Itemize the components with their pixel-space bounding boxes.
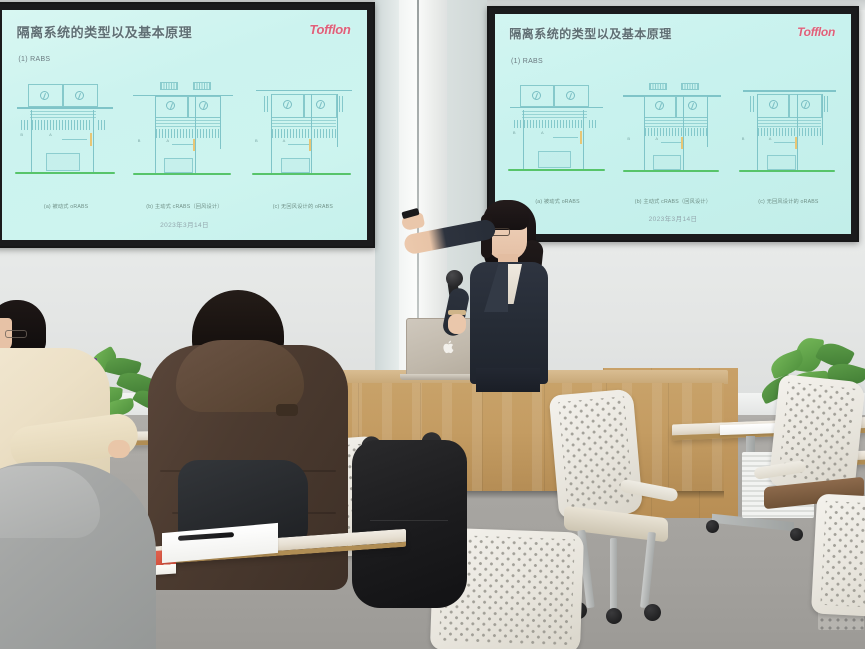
diagram-b-caption: (b) 主动式 cRABS（回风设计）: [131, 203, 237, 210]
slide-date: 2023年3月14日: [2, 219, 367, 229]
diagram-a-right: B A (a) 被动式 oRABS: [506, 82, 610, 205]
diagram-c-right: B A (c) 无回风设计的 oRABS: [737, 82, 841, 205]
diagram-c-caption: (c) 无回风设计的 oRABS: [250, 203, 356, 210]
attendee-cream-hand: [108, 440, 130, 458]
diagram-b-caption-right: (b) 主动式 cRABS（回风设计）: [621, 198, 725, 205]
jacket-toggle: [276, 404, 298, 416]
slide-left: 隔离系统的类型以及基本原理 Tofflon (1) RABS: [2, 10, 367, 240]
wall-panel-left: [375, 0, 399, 420]
diagram-a: B A (a) 被动式 oRABS: [13, 81, 119, 210]
chair-caster: [644, 604, 661, 621]
tofflon-logo-right: Tofflon: [797, 25, 835, 39]
diagram-row-right: B A (a) 被动式 oRABS: [506, 82, 841, 205]
diagram-b-right: B A (b) 主动式 cRABS（回风设计）: [621, 82, 725, 205]
diagram-a-canvas: B A: [13, 81, 119, 184]
table-caster: [706, 520, 719, 533]
slide-subtitle: (1) RABS: [18, 56, 50, 63]
attendee-brown-hood: [176, 340, 304, 412]
chair-backrest: [811, 493, 865, 618]
diagram-c-caption-right: (c) 无回风设计的 oRABS: [737, 198, 841, 205]
chair-mesh-pattern: [558, 396, 633, 509]
slide-subtitle-right: (1) RABS: [511, 58, 543, 65]
diagram-a-caption: (a) 被动式 oRABS: [13, 203, 119, 210]
chair-backrest: [768, 374, 865, 494]
attendee-cream-glasses: [5, 330, 27, 338]
conference-room-photo: 隔离系统的类型以及基本原理 Tofflon (1) RABS: [0, 0, 865, 649]
slide-title-right: 隔离系统的类型以及基本原理: [509, 25, 672, 42]
microphone-head: [446, 270, 463, 287]
diagram-c-canvas: B A: [250, 81, 356, 184]
left-projection-screen: 隔离系统的类型以及基本原理 Tofflon (1) RABS: [0, 2, 375, 248]
presenter-skirt: [476, 368, 540, 392]
diagram-b-canvas: B A: [131, 81, 237, 184]
slide-title: 隔离系统的类型以及基本原理: [17, 22, 193, 41]
chair-empty-far-right[interactable]: [814, 496, 865, 646]
presenter: [398, 192, 563, 382]
chair-mesh-pattern: [820, 501, 865, 609]
presenter-mic-hand: [448, 314, 466, 334]
chair-backrest: [549, 389, 643, 520]
diagram-b: B A (b) 主动式 cRABS（回风设计）: [131, 81, 237, 210]
chair-leg: [640, 532, 656, 608]
tofflon-logo: Tofflon: [309, 22, 350, 37]
diagram-c: B A (c) 无回风设计的 oRABS: [250, 81, 356, 210]
diagram-row: B A (a) 被动式 oRABS: [13, 81, 356, 210]
